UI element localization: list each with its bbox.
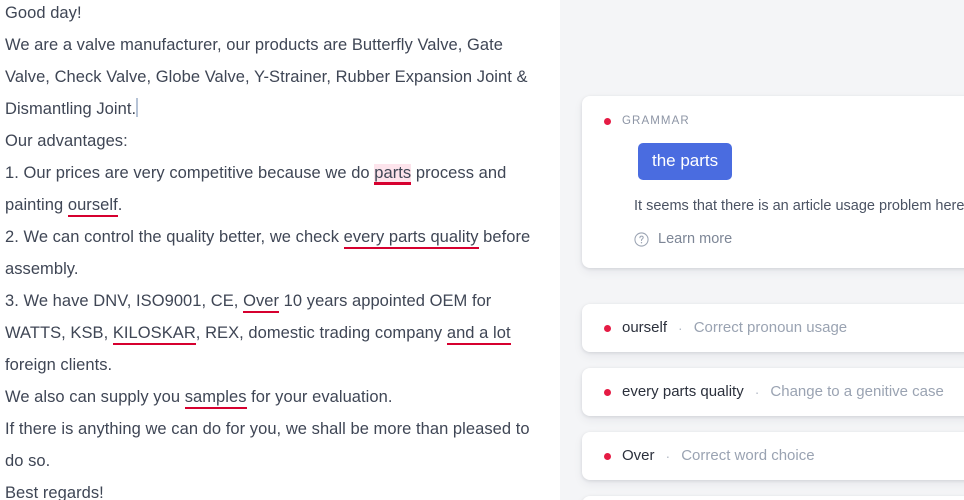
document-paragraph: If there is anything we can do for you, … xyxy=(5,413,550,477)
suggestion-description: Correct word choice xyxy=(681,447,814,465)
question-circle-icon xyxy=(634,232,649,247)
assistant-sidebar: GRAMMAR the parts It seems that there is… xyxy=(560,0,964,500)
text-run: Best regards! xyxy=(5,484,104,500)
suggestion-description: Correct pronoun usage xyxy=(694,319,847,337)
document-text-area[interactable]: Good day!We are a valve manufacturer, ou… xyxy=(5,0,550,500)
document-paragraph: 2. We can control the quality better, we… xyxy=(5,221,550,285)
suggestion-row: every parts quality · Change to a geniti… xyxy=(604,383,944,401)
text-run: . xyxy=(118,196,123,214)
document-paragraph: 1. Our prices are very competitive becau… xyxy=(5,157,550,221)
grammar-error-span[interactable]: Over xyxy=(243,292,279,313)
text-run: Our advantages: xyxy=(5,132,128,150)
card-category-label: GRAMMAR xyxy=(622,114,690,128)
apply-suggestion-chip[interactable]: the parts xyxy=(638,143,732,180)
suggestion-term: ourself xyxy=(622,319,667,337)
grammar-error-span[interactable]: every parts quality xyxy=(344,228,479,249)
suggestion-term: every parts quality xyxy=(622,383,744,401)
suggestion-card-grammar[interactable]: GRAMMAR the parts It seems that there is… xyxy=(582,96,964,268)
suggestion-card-next-partial[interactable] xyxy=(582,496,964,500)
suggestion-description: Change to a genitive case xyxy=(770,383,943,401)
card-kicker: GRAMMAR xyxy=(604,114,960,128)
text-run: Good day! xyxy=(5,4,82,22)
text-run: We are a valve manufacturer, our product… xyxy=(5,36,528,118)
separator-dot: · xyxy=(678,319,683,337)
suggestion-card-ourself[interactable]: ourself · Correct pronoun usage xyxy=(582,304,964,352)
document-paragraph: We are a valve manufacturer, our product… xyxy=(5,29,550,125)
text-run: 2. We can control the quality better, we… xyxy=(5,228,344,246)
alert-dot-icon xyxy=(604,118,611,125)
learn-more-button[interactable]: Learn more xyxy=(634,231,732,247)
text-caret xyxy=(136,98,138,117)
document-paragraph: We also can supply you samples for your … xyxy=(5,381,550,413)
suggestion-card-over[interactable]: Over · Correct word choice xyxy=(582,432,964,480)
document-paragraph: Best regards! xyxy=(5,477,550,500)
grammar-error-span[interactable]: samples xyxy=(185,388,247,409)
card-explanation-text: It seems that there is an article usage … xyxy=(634,197,960,216)
suggestion-term: Over xyxy=(622,447,655,465)
suggestion-row: ourself · Correct pronoun usage xyxy=(604,319,847,337)
text-run: , REX, domestic trading company xyxy=(196,324,447,342)
alert-dot-icon xyxy=(604,453,611,460)
document-paragraph: 3. We have DNV, ISO9001, CE, Over 10 yea… xyxy=(5,285,550,381)
text-run: 1. Our prices are very competitive becau… xyxy=(5,164,374,182)
editor-pane[interactable]: Good day!We are a valve manufacturer, ou… xyxy=(0,0,560,500)
suggestion-row: Over · Correct word choice xyxy=(604,447,815,465)
grammar-error-span-active[interactable]: parts xyxy=(374,164,411,185)
text-run: We also can supply you xyxy=(5,388,185,406)
separator-dot: · xyxy=(666,447,671,465)
grammar-error-span[interactable]: ourself xyxy=(68,196,118,217)
text-run: foreign clients. xyxy=(5,356,112,374)
grammar-error-span[interactable]: KILOSKAR xyxy=(113,324,196,345)
text-run: 3. We have DNV, ISO9001, CE, xyxy=(5,292,243,310)
alert-dot-icon xyxy=(604,389,611,396)
separator-dot: · xyxy=(755,383,760,401)
suggestion-card-every-parts-quality[interactable]: every parts quality · Change to a geniti… xyxy=(582,368,964,416)
document-paragraph: Good day! xyxy=(5,0,550,29)
learn-more-label: Learn more xyxy=(658,231,732,247)
text-run: If there is anything we can do for you, … xyxy=(5,420,530,470)
grammar-assistant-app: Good day!We are a valve manufacturer, ou… xyxy=(0,0,964,500)
document-paragraph: Our advantages: xyxy=(5,125,550,157)
text-run: for your evaluation. xyxy=(247,388,393,406)
alert-dot-icon xyxy=(604,325,611,332)
grammar-error-span[interactable]: and a lot xyxy=(447,324,511,345)
